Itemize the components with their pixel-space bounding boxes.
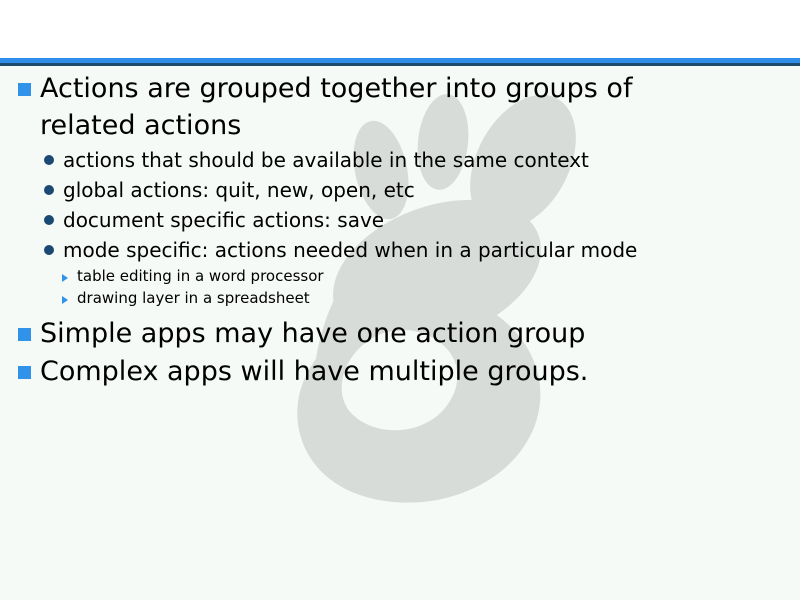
bullet-text: document specific actions: save — [63, 205, 384, 235]
bullet-level1: Complex apps will have multiple groups. — [0, 353, 800, 390]
bullet-text: drawing layer in a spreadsheet — [77, 287, 310, 309]
circle-bullet-icon — [44, 235, 63, 255]
slide: Action Groups Actions are grouped togeth… — [0, 0, 800, 600]
circle-bullet-icon — [44, 145, 63, 165]
triangle-bullet-icon — [62, 265, 77, 282]
bullet-list: Actions are grouped together into groups… — [0, 70, 800, 391]
square-bullet-icon — [18, 315, 40, 341]
bullet-text: Actions are grouped together into groups… — [40, 70, 700, 144]
bullet-level2: global actions: quit, new, open, etc — [0, 175, 800, 205]
square-bullet-icon — [18, 70, 40, 96]
bullet-text: mode specific: actions needed when in a … — [63, 235, 637, 265]
bullet-text: Simple apps may have one action group — [40, 315, 585, 352]
title-rule-secondary — [0, 63, 800, 66]
bullet-level2: actions that should be available in the … — [0, 145, 800, 175]
bullet-text: global actions: quit, new, open, etc — [63, 175, 415, 205]
bullet-text: Complex apps will have multiple groups. — [40, 353, 588, 390]
bullet-level3: table editing in a word processor — [0, 265, 800, 287]
bullet-level2: mode specific: actions needed when in a … — [0, 235, 800, 265]
bullet-text: actions that should be available in the … — [63, 145, 589, 175]
bullet-level2: document specific actions: save — [0, 205, 800, 235]
square-bullet-icon — [18, 353, 40, 379]
bullet-level1: Simple apps may have one action group — [0, 315, 800, 352]
bullet-text: table editing in a word processor — [77, 265, 324, 287]
triangle-bullet-icon — [62, 287, 77, 304]
circle-bullet-icon — [44, 205, 63, 225]
bullet-level1: Actions are grouped together into groups… — [0, 70, 800, 144]
bullet-level3: drawing layer in a spreadsheet — [0, 287, 800, 309]
title-band — [0, 0, 800, 58]
circle-bullet-icon — [44, 175, 63, 195]
